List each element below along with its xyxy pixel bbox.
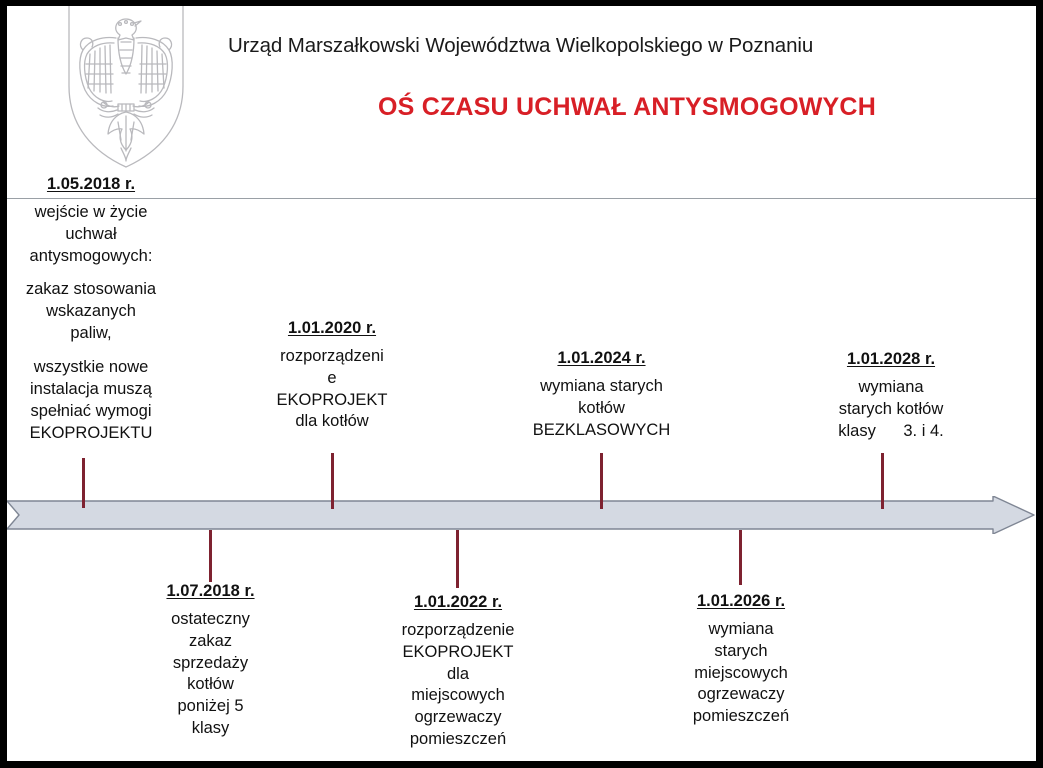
tick-mark-2018-07 [209,530,212,582]
event-date: 1.07.2018 r. [166,581,254,602]
event-date: 1.01.2022 r. [414,592,502,613]
page-title: OŚ CZASU UCHWAŁ ANTYSMOGOWYCH [307,93,947,122]
event-description: rozporządzenie EKOPROJEKT dla miejscowyc… [378,620,538,752]
organization-name: Urząd Marszałkowski Województwa Wielkopo… [228,34,928,58]
poster-canvas: Urząd Marszałkowski Województwa Wielkopo… [7,6,1036,761]
event-paragraph: wejście w życie uchwał antysmogowych: [11,202,171,268]
event-paragraph: wymiana starych kotłów klasy 3. i 4. [807,377,975,443]
event-paragraph: ostateczny zakaz sprzedaży kotłów poniże… [133,609,288,741]
event-paragraph: rozporządzeni e EKOPROJEKT dla kotłów [253,346,411,434]
wielkopolska-coat-of-arms-icon [63,6,189,170]
event-2026: 1.01.2026 r. wymiana starych miejscowych… [662,591,820,728]
event-2028: 1.01.2028 r. wymiana starych kotłów klas… [807,349,975,442]
event-2018-07: 1.07.2018 r. ostateczny zakaz sprzedaży … [133,581,288,740]
tick-mark-2026 [739,530,742,585]
event-2020: 1.01.2020 r. rozporządzeni e EKOPROJEKT … [253,318,411,433]
event-description: wymiana starych kotłów klasy 3. i 4. [807,377,975,443]
event-description: wymiana starych kotłów BEZKLASOWYCH [519,376,684,442]
event-date: 1.01.2028 r. [847,349,935,370]
poster-frame: Urząd Marszałkowski Województwa Wielkopo… [0,0,1043,768]
event-description: wejście w życie uchwał antysmogowych: za… [11,202,171,445]
event-date: 1.01.2020 r. [288,318,376,339]
event-paragraph: zakaz stosowania wskazanych paliw, [11,279,171,345]
tick-mark-2028 [881,453,884,509]
event-paragraph: wymiana starych miejscowych ogrzewaczy p… [662,619,820,729]
event-description: rozporządzeni e EKOPROJEKT dla kotłów [253,346,411,434]
tick-mark-2024 [600,453,603,509]
event-2024: 1.01.2024 r. wymiana starych kotłów BEZK… [519,348,684,441]
tick-mark-2018-05 [82,458,85,508]
event-date: 1.01.2026 r. [697,591,785,612]
event-description: ostateczny zakaz sprzedaży kotłów poniże… [133,609,288,741]
header: Urząd Marszałkowski Województwa Wielkopo… [7,6,1036,199]
tick-mark-2022 [456,530,459,588]
event-paragraph: rozporządzenie EKOPROJEKT dla miejscowyc… [378,620,538,752]
event-paragraph: wszystkie nowe instalacja muszą spełniać… [11,357,171,445]
event-2018-05: 1.05.2018 r. wejście w życie uchwał anty… [11,174,171,445]
event-description: wymiana starych miejscowych ogrzewaczy p… [662,619,820,729]
event-date: 1.05.2018 r. [47,174,135,195]
event-date: 1.01.2024 r. [557,348,645,369]
event-2022: 1.01.2022 r. rozporządzenie EKOPROJEKT d… [378,592,538,751]
event-paragraph: wymiana starych kotłów BEZKLASOWYCH [519,376,684,442]
tick-mark-2020 [331,453,334,509]
